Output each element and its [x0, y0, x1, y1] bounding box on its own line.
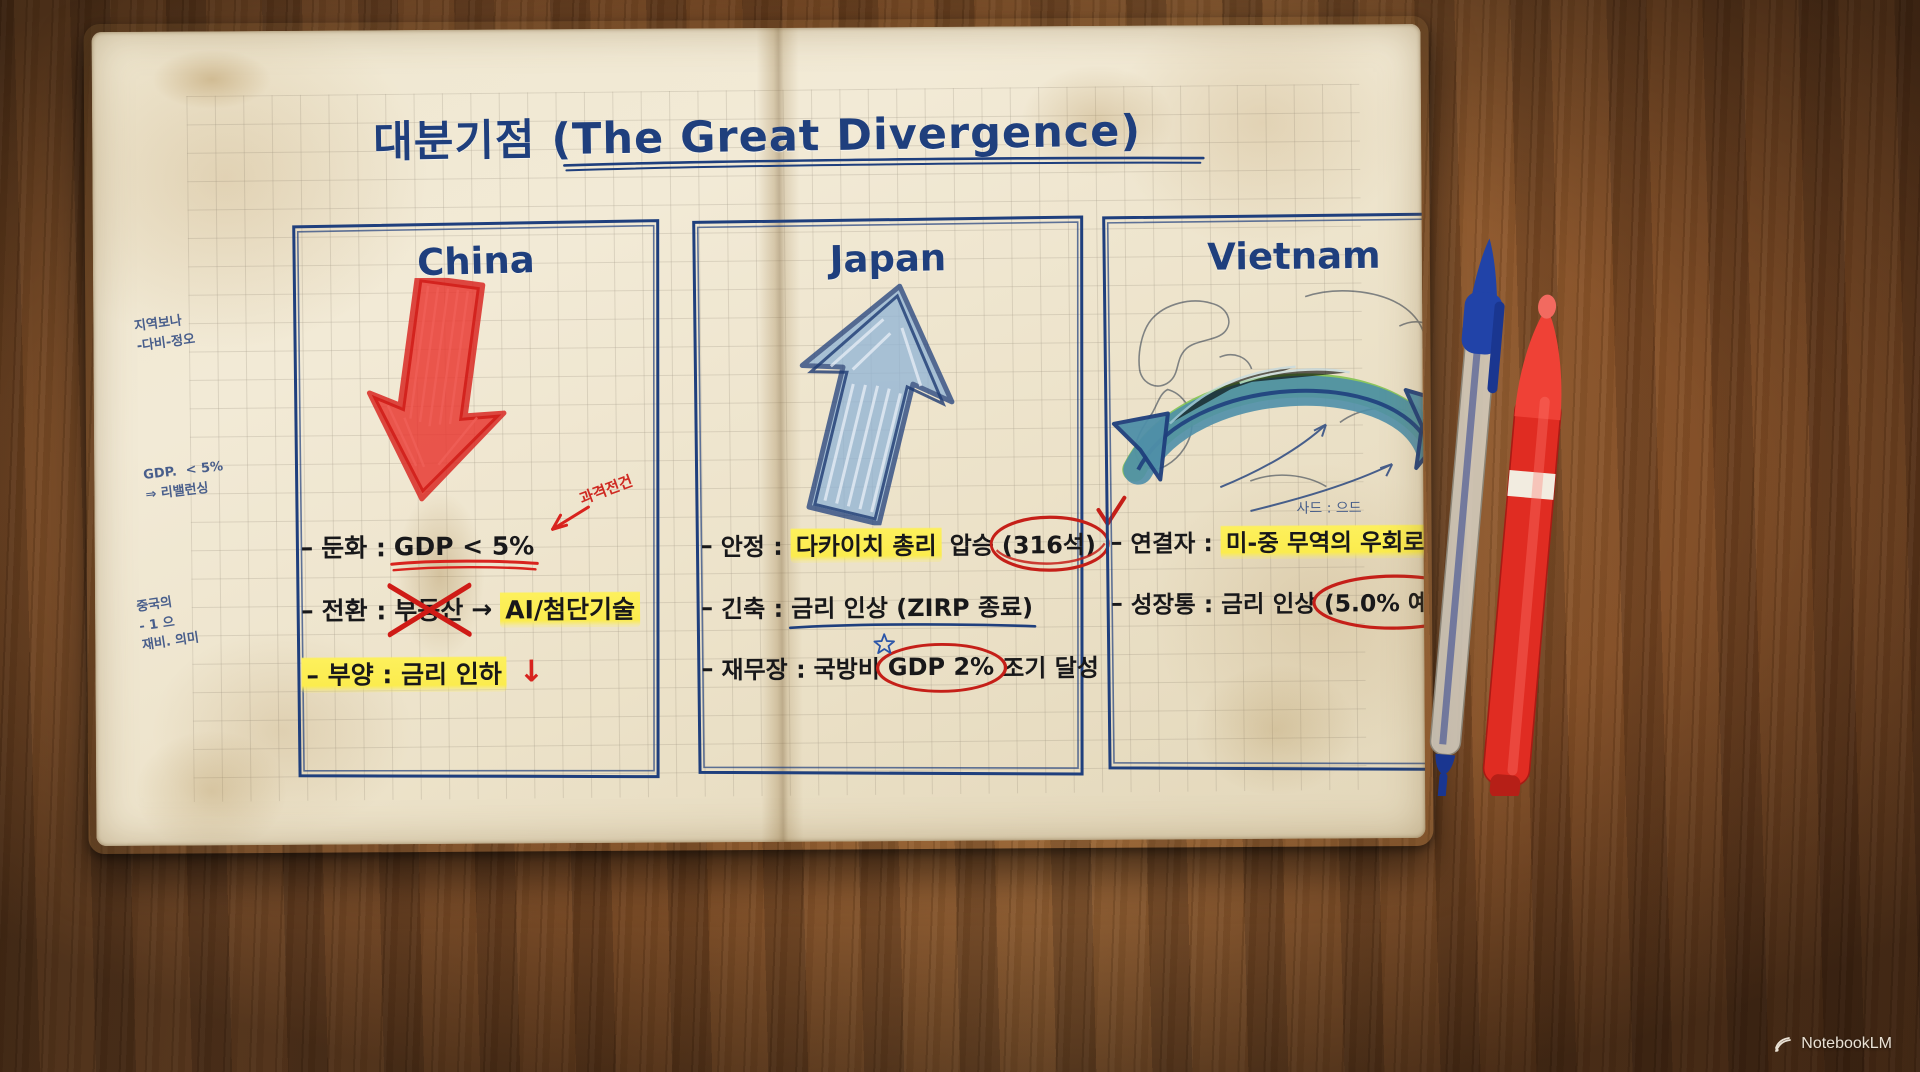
watermark-label: NotebookLM	[1801, 1035, 1892, 1053]
screenshot-root: 대분기점 (The Great Divergence) 지역보나 -다비-정오 …	[0, 0, 1920, 1072]
red-marker-pen	[1470, 276, 1590, 796]
notebooklm-icon	[1773, 1034, 1793, 1054]
notebooklm-watermark: NotebookLM	[1773, 1034, 1892, 1054]
notebook-page: 대분기점 (The Great Divergence) 지역보나 -다비-정오 …	[92, 24, 1426, 846]
notebook: 대분기점 (The Great Divergence) 지역보나 -다비-정오 …	[83, 16, 1433, 854]
page-edge-shadow	[92, 24, 1426, 846]
